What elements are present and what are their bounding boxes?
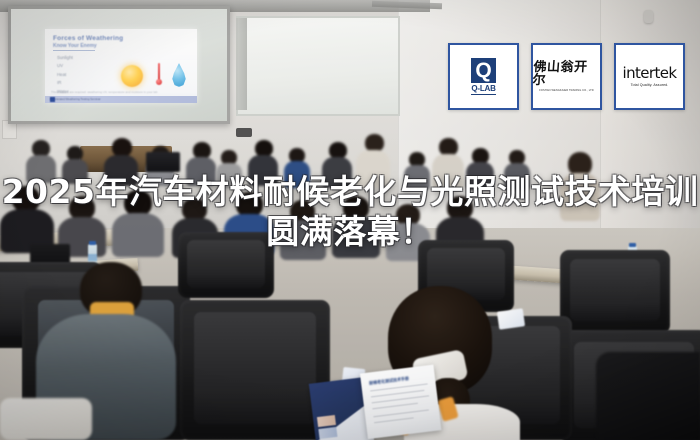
poster-image: Forces of Weathering Know Your Enemy Sun…	[0, 0, 700, 440]
foshan-wengkaier-chinese: 佛山翁开尔	[532, 61, 601, 87]
intertek-logo: intertek Total Quality. Assured.	[614, 43, 685, 110]
slide-bullet: Heat	[57, 72, 73, 77]
headline-line-2: 圆满落幕！	[0, 212, 700, 252]
intertek-wordmark: intertek	[623, 66, 677, 81]
name-badge	[497, 308, 525, 329]
slide-divider	[53, 50, 95, 51]
wall-sensor	[644, 10, 653, 23]
foshan-wengkaier-logo: 佛山翁开尔 FOSHAN WENGKAIER TRADING CO., LTD	[531, 43, 602, 110]
slide-bullet: Sunlight	[57, 55, 73, 60]
wall-mounted-strip	[236, 18, 247, 110]
water-droplet-icon	[171, 63, 187, 87]
foshan-wengkaier-english: FOSHAN WENGKAIER TRADING CO., LTD	[539, 89, 594, 92]
q-lab-mark: Q	[471, 58, 496, 83]
sun-icon	[121, 65, 143, 87]
slide-bullet: IR	[57, 80, 73, 85]
office-chair	[180, 300, 330, 440]
headline-line-1: 2025年汽车材料耐候老化与光照测试技术培训	[0, 172, 700, 212]
q-lab-wordmark: Q-LAB	[471, 84, 495, 95]
thermometer-icon	[156, 63, 162, 89]
wall-speaker	[236, 128, 252, 137]
foreground-shape	[596, 352, 700, 440]
monitor	[146, 152, 180, 172]
q-lab-logo: Q Q-LAB	[448, 43, 519, 110]
office-chair	[560, 250, 670, 334]
slide-footer-bar: Accelerated Weathering Testing Seminar 1…	[45, 96, 197, 103]
poster-headline: 2025年汽车材料耐候老化与光照测试技术培训 圆满落幕！	[0, 172, 700, 252]
foreground-shape	[0, 398, 92, 440]
intertek-tagline: Total Quality. Assured.	[631, 83, 669, 87]
logo-strip: Q Q-LAB 佛山翁开尔 FOSHAN WENGKAIER TRADING C…	[448, 43, 685, 110]
slide-title: Forces of Weathering	[53, 35, 123, 42]
slide-footnote: Three factors are required: weathering U…	[51, 90, 191, 94]
slide-subtitle: Know Your Enemy	[53, 43, 97, 49]
slide-footer-mark	[50, 97, 55, 102]
presentation-slide: Forces of Weathering Know Your Enemy Sun…	[45, 29, 197, 103]
whiteboard	[236, 16, 400, 116]
slide-page-number: 12	[50, 97, 187, 101]
slide-bullet: UV	[57, 63, 73, 68]
projector-screen: Forces of Weathering Know Your Enemy Sun…	[8, 6, 230, 124]
